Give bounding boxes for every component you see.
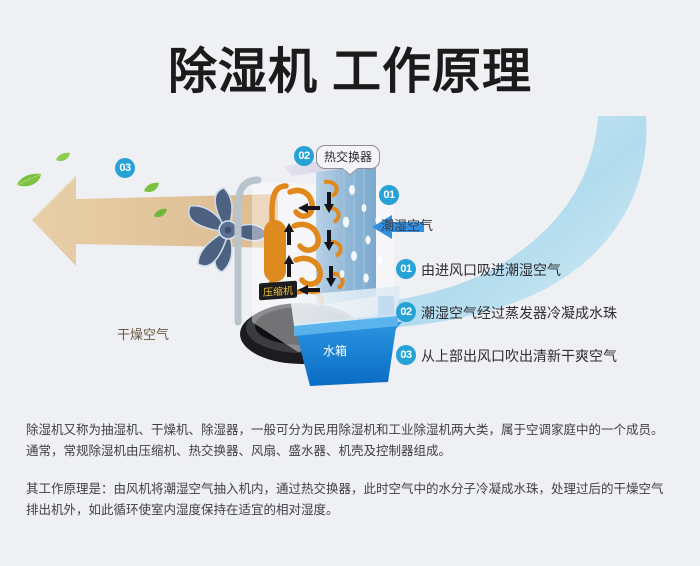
principle-steps-list: 01 由进风口吸进潮湿空气 02 潮湿空气经过蒸发器冷凝成水珠 03 从上部出风… [396,258,696,387]
list-item: 01 由进风口吸进潮湿空气 [396,258,696,280]
list-item: 02 潮湿空气经过蒸发器冷凝成水珠 [396,301,696,323]
compressor-label: 压缩机 [259,281,297,301]
page-title: 除湿机工作原理 [0,32,700,103]
heat-exchanger-callout: 热交换器 [316,145,380,169]
leaf-icon [55,150,71,168]
heat-exchanger-badge: 02 [294,146,314,166]
step-text: 潮湿空气经过蒸发器冷凝成水珠 [421,303,617,323]
paragraph-line: 其工作原理是：由风机将潮湿空气抽入机内，通过热交换器，此时空气中的水分子冷凝成水… [26,479,681,500]
list-item: 03 从上部出风口吹出清新干爽空气 [396,344,696,366]
paragraph-principle: 其工作原理是：由风机将潮湿空气抽入机内，通过热交换器，此时空气中的水分子冷凝成水… [26,479,681,521]
humid-air-badge: 01 [379,185,399,205]
dry-air-label: 干燥空气 [117,324,169,343]
step-badge: 01 [396,259,416,279]
step-text: 从上部出风口吹出清新干爽空气 [421,346,617,366]
water-tank-label: 水箱 [323,342,347,359]
step-badge: 03 [396,345,416,365]
paragraph-definition: 除湿机又称为抽湿机、干燥机、除湿器，一般可分为民用除湿机和工业除湿机两大类，属于… [26,420,681,462]
paragraph-line: 通常，常规除湿机由压缩机、热交换器、风扇、盛水器、机壳及控制器组成。 [26,441,681,462]
description-section: 除湿机又称为抽湿机、干燥机、除湿器，一般可分为民用除湿机和工业除湿机两大类，属于… [26,420,681,538]
dry-air-badge: 03 [115,158,135,178]
paragraph-line: 排出机外，如此循环使室内湿度保持在适宜的相对湿度。 [26,500,681,521]
paragraph-line: 除湿机又称为抽湿机、干燥机、除湿器，一般可分为民用除湿机和工业除湿机两大类，属于… [26,420,681,441]
leaf-icon [143,181,160,199]
page-title-part-b: 工作原理 [332,45,532,99]
leaf-icon [153,206,168,224]
step-text: 由进风口吸进潮湿空气 [421,260,561,280]
step-badge: 02 [396,302,416,322]
leaf-icon [16,173,42,194]
humid-air-label: 潮湿空气 [381,215,433,234]
page-title-part-a: 除湿机 [168,45,318,99]
